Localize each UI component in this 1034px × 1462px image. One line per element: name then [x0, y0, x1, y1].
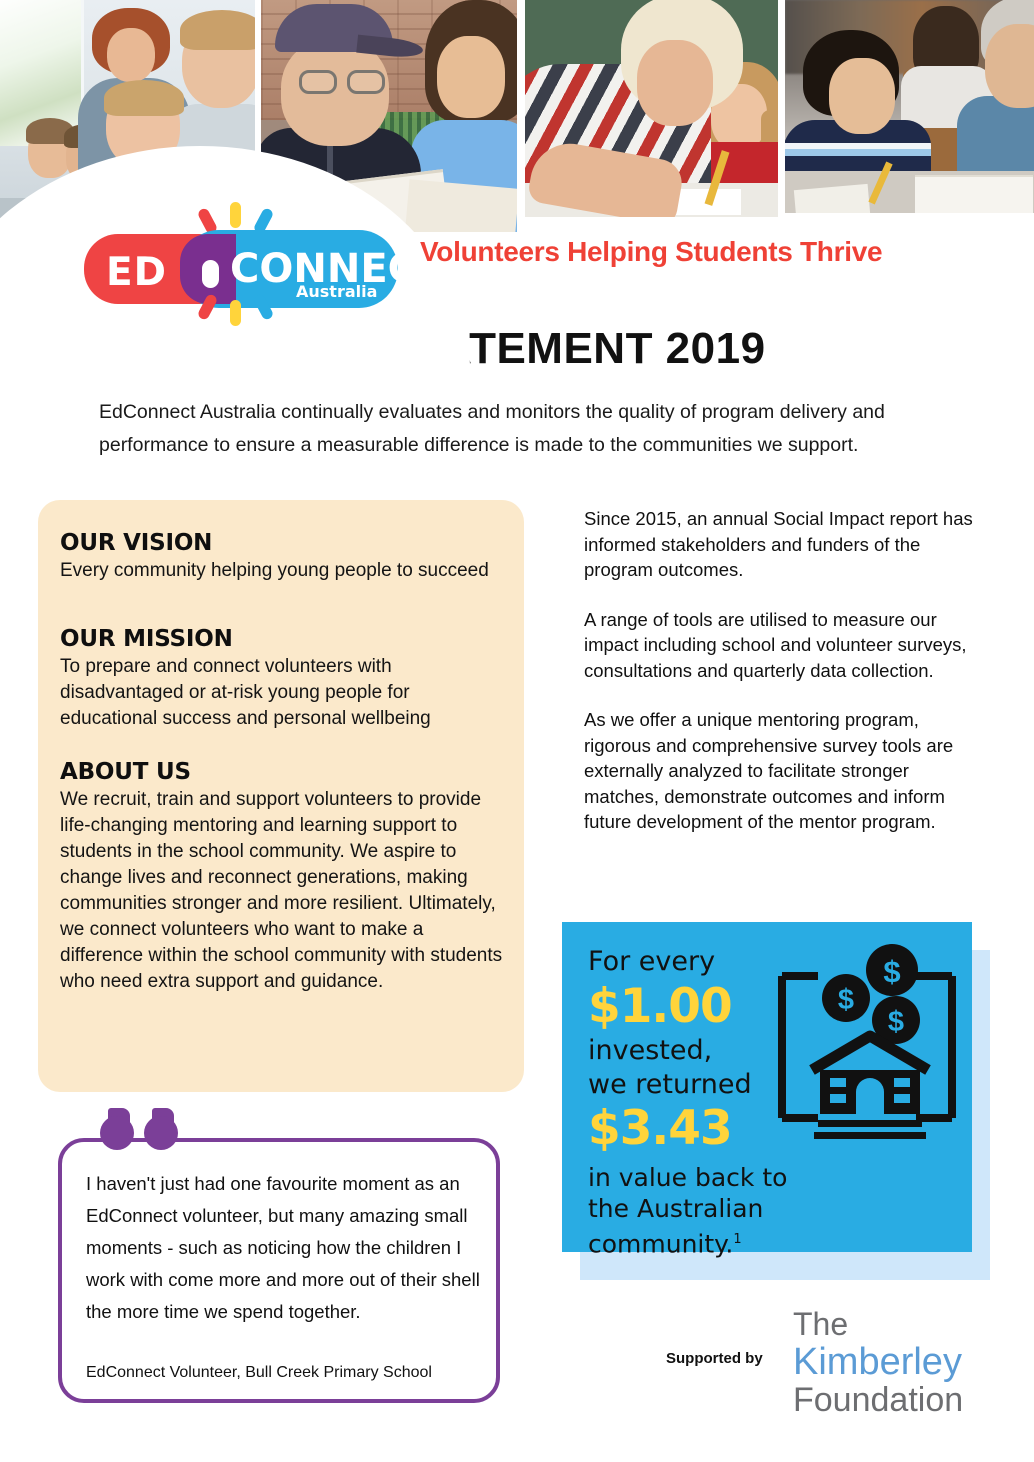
edconnect-logo: ED CONNECT Australia	[84, 216, 396, 312]
header-photo-4	[785, 0, 1034, 213]
kimberley-foundation-logo: The Kimberley Foundation	[793, 1305, 1013, 1419]
quote-text: I haven't just had one favourite moment …	[86, 1168, 480, 1328]
logo-text-ed: ED	[106, 250, 167, 295]
section-our-vision: OUR VISION Every community helping young…	[60, 530, 510, 584]
roi-footnote-marker: 1	[733, 1232, 741, 1247]
logo-sparks-bottom-icon	[196, 294, 306, 324]
section-heading: OUR VISION	[60, 530, 510, 556]
section-body: To prepare and connect volunteers with d…	[60, 654, 510, 732]
mission-vision-panel: OUR VISION Every community helping young…	[38, 500, 524, 1092]
coins-over-bank-building-icon: $ $ $	[774, 942, 960, 1142]
tagline: Volunteers Helping Students Thrive	[420, 236, 882, 268]
section-heading: ABOUT US	[60, 759, 510, 785]
svg-text:$: $	[888, 1006, 904, 1038]
roi-line-value-back: in value back to the Australian communit…	[588, 1162, 818, 1259]
roi-tail-text: in value back to the Australian communit…	[588, 1163, 787, 1258]
right-paragraph-2: A range of tools are utilised to measure…	[584, 607, 974, 684]
quotation-mark-icon	[100, 1108, 178, 1160]
sponsor-name: Kimberley	[793, 1343, 1013, 1381]
roi-callout: For every $1.00 invested, we returned $3…	[562, 922, 972, 1252]
logo-dot-icon	[202, 260, 219, 288]
svg-text:$: $	[883, 954, 900, 989]
right-paragraph-3: As we offer a unique mentoring program, …	[584, 707, 974, 835]
impact-statement-page: ED CONNECT Australia Volunteers Helping …	[0, 0, 1034, 1462]
intro-paragraph: EdConnect Australia continually evaluate…	[99, 396, 965, 462]
section-body: Every community helping young people to …	[60, 558, 510, 584]
quote-attribution: EdConnect Volunteer, Bull Creek Primary …	[86, 1364, 432, 1382]
section-about-us: ABOUT US We recruit, train and support v…	[60, 759, 510, 995]
section-our-mission: OUR MISSION To prepare and connect volun…	[60, 626, 510, 732]
supported-by-label: Supported by	[666, 1350, 763, 1367]
svg-text:$: $	[838, 984, 854, 1016]
right-column-text: Since 2015, an annual Social Impact repo…	[584, 506, 974, 835]
section-heading: OUR MISSION	[60, 626, 510, 652]
section-body: We recruit, train and support volunteers…	[60, 787, 510, 995]
header-photo-3	[525, 0, 778, 217]
right-paragraph-1: Since 2015, an annual Social Impact repo…	[584, 506, 974, 583]
sponsor-foundation: Foundation	[793, 1381, 1013, 1419]
sponsor-the: The	[793, 1305, 1013, 1343]
logo-text-australia: Australia	[296, 282, 377, 301]
testimonial-quote-box: I haven't just had one favourite moment …	[58, 1138, 500, 1403]
